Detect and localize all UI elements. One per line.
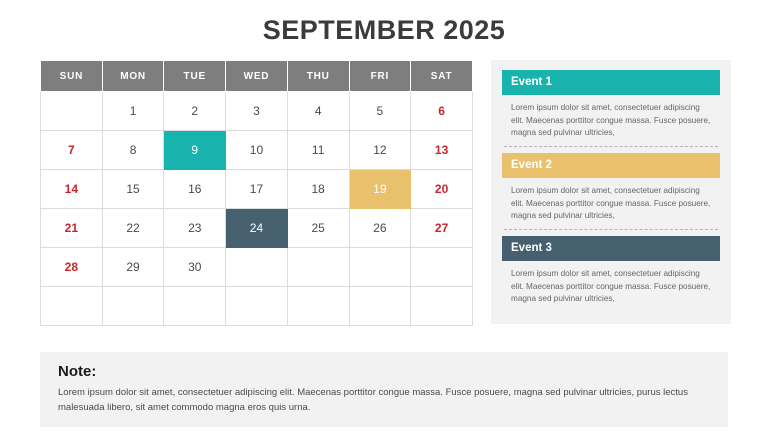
calendar-day-cell-18[interactable]: 18	[287, 170, 349, 209]
calendar-day-cell-15[interactable]: 15	[102, 170, 164, 209]
calendar-day-cell-17[interactable]: 17	[226, 170, 288, 209]
calendar-day-cell-24[interactable]: 24	[226, 209, 288, 248]
calendar-day-cell-empty	[411, 248, 473, 287]
event-block-2: Event 2Lorem ipsum dolor sit amet, conse…	[502, 153, 720, 229]
calendar-day-cell-16[interactable]: 16	[164, 170, 226, 209]
page-title: SEPTEMBER 2025	[0, 0, 768, 44]
calendar-day-cell-7[interactable]: 7	[41, 131, 103, 170]
events-panel: Event 1Lorem ipsum dolor sit amet, conse…	[491, 60, 731, 324]
calendar-header-row: SUNMONTUEWEDTHUFRISAT	[41, 61, 473, 92]
calendar-day-cell-27[interactable]: 27	[411, 209, 473, 248]
calendar-day-cell-empty	[226, 248, 288, 287]
calendar-day-cell-20[interactable]: 20	[411, 170, 473, 209]
calendar-day-cell-empty	[164, 287, 226, 326]
calendar-day-cell-empty	[287, 287, 349, 326]
calendar-day-cell-19[interactable]: 19	[349, 170, 411, 209]
event-separator	[504, 146, 718, 147]
calendar-day-cell-empty	[349, 287, 411, 326]
event-body-2: Lorem ipsum dolor sit amet, consectetuer…	[502, 178, 720, 229]
calendar-day-header-thu: THU	[287, 61, 349, 92]
event-body-1: Lorem ipsum dolor sit amet, consectetuer…	[502, 95, 720, 146]
calendar-day-cell-empty	[226, 287, 288, 326]
note-box: Note: Lorem ipsum dolor sit amet, consec…	[40, 352, 728, 427]
calendar-week-row: 21222324252627	[41, 209, 473, 248]
calendar-day-cell-30[interactable]: 30	[164, 248, 226, 287]
calendar-day-cell-21[interactable]: 21	[41, 209, 103, 248]
calendar-day-header-sun: SUN	[41, 61, 103, 92]
calendar-day-cell-empty	[102, 287, 164, 326]
event-header-2[interactable]: Event 2	[502, 153, 720, 178]
event-header-1[interactable]: Event 1	[502, 70, 720, 95]
calendar-body: 1234567891011121314151617181920212223242…	[41, 92, 473, 326]
calendar-day-cell-26[interactable]: 26	[349, 209, 411, 248]
calendar-week-row	[41, 287, 473, 326]
calendar-day-cell-4[interactable]: 4	[287, 92, 349, 131]
event-body-3: Lorem ipsum dolor sit amet, consectetuer…	[502, 261, 720, 312]
calendar-day-cell-6[interactable]: 6	[411, 92, 473, 131]
calendar-day-cell-22[interactable]: 22	[102, 209, 164, 248]
calendar-day-cell-14[interactable]: 14	[41, 170, 103, 209]
calendar-day-header-wed: WED	[226, 61, 288, 92]
note-title: Note:	[58, 363, 710, 381]
calendar-week-row: 282930	[41, 248, 473, 287]
calendar-day-cell-13[interactable]: 13	[411, 131, 473, 170]
calendar-week-row: 14151617181920	[41, 170, 473, 209]
calendar-week-row: 78910111213	[41, 131, 473, 170]
event-header-3[interactable]: Event 3	[502, 236, 720, 261]
calendar-day-cell-12[interactable]: 12	[349, 131, 411, 170]
calendar-day-cell-empty	[41, 92, 103, 131]
calendar-day-cell-5[interactable]: 5	[349, 92, 411, 131]
calendar-day-cell-8[interactable]: 8	[102, 131, 164, 170]
calendar-day-cell-28[interactable]: 28	[41, 248, 103, 287]
event-block-3: Event 3Lorem ipsum dolor sit amet, conse…	[502, 236, 720, 312]
calendar-week-row: 123456	[41, 92, 473, 131]
main-content: SUNMONTUEWEDTHUFRISAT 123456789101112131…	[0, 60, 768, 326]
calendar-day-cell-empty	[349, 248, 411, 287]
calendar-day-cell-10[interactable]: 10	[226, 131, 288, 170]
calendar-day-cell-empty	[411, 287, 473, 326]
calendar-day-header-mon: MON	[102, 61, 164, 92]
event-separator	[504, 229, 718, 230]
calendar-day-cell-11[interactable]: 11	[287, 131, 349, 170]
calendar-day-cell-3[interactable]: 3	[226, 92, 288, 131]
calendar-day-header-sat: SAT	[411, 61, 473, 92]
calendar-grid: SUNMONTUEWEDTHUFRISAT 123456789101112131…	[40, 60, 473, 326]
calendar-day-header-tue: TUE	[164, 61, 226, 92]
calendar-day-cell-2[interactable]: 2	[164, 92, 226, 131]
note-text: Lorem ipsum dolor sit amet, consectetuer…	[58, 385, 710, 415]
event-block-1: Event 1Lorem ipsum dolor sit amet, conse…	[502, 70, 720, 146]
calendar-day-cell-empty	[41, 287, 103, 326]
calendar-day-cell-empty	[287, 248, 349, 287]
calendar-day-cell-23[interactable]: 23	[164, 209, 226, 248]
calendar-day-header-fri: FRI	[349, 61, 411, 92]
calendar-day-cell-25[interactable]: 25	[287, 209, 349, 248]
calendar-day-cell-29[interactable]: 29	[102, 248, 164, 287]
calendar-day-cell-9[interactable]: 9	[164, 131, 226, 170]
calendar-day-cell-1[interactable]: 1	[102, 92, 164, 131]
